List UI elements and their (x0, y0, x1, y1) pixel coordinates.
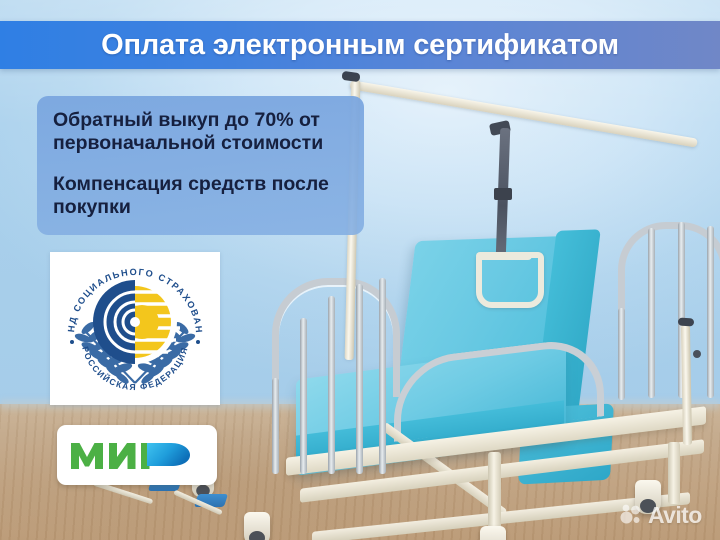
avito-dots-icon (619, 503, 643, 527)
mir-logo-icon (57, 425, 217, 485)
feature-line-compensation: Компенсация средств после покупки (53, 173, 348, 220)
avito-wordmark: Avito (648, 502, 702, 529)
page-title: Оплата электронным сертификатом (101, 29, 619, 62)
side-rail-right (618, 222, 714, 382)
fss-emblem-icon: ФОНД СОЦИАЛЬНОГО СТРАХОВАНИЯ РОССИЙСКАЯ … (50, 252, 220, 405)
avito-watermark: Avito (619, 500, 711, 530)
lift-trapeze-handle (476, 252, 544, 308)
lift-strap-buckle (494, 188, 512, 200)
fss-logo-card: ФОНД СОЦИАЛЬНОГО СТРАХОВАНИЯ РОССИЙСКАЯ … (50, 252, 220, 405)
lift-pole-cap-left (341, 71, 360, 82)
caster-wheel-front (480, 526, 506, 540)
features-box: Обратный выкуп до 70% от первоначальной … (37, 96, 364, 235)
promo-image: Оплата электронным сертификатом Обратный… (0, 0, 720, 540)
side-rail-left (272, 278, 386, 458)
lift-pole-knob (693, 350, 701, 358)
lift-pole-cap-right (678, 317, 695, 326)
mir-logo-card (57, 425, 217, 485)
header-banner: Оплата электронным сертификатом (0, 21, 720, 69)
caster-wheel-left (244, 512, 270, 540)
lift-pole-horizontal-arm (349, 80, 698, 148)
feature-line-buyback: Обратный выкуп до 70% от первоначальной … (53, 109, 348, 156)
bed-frame-leg-right (668, 442, 680, 504)
